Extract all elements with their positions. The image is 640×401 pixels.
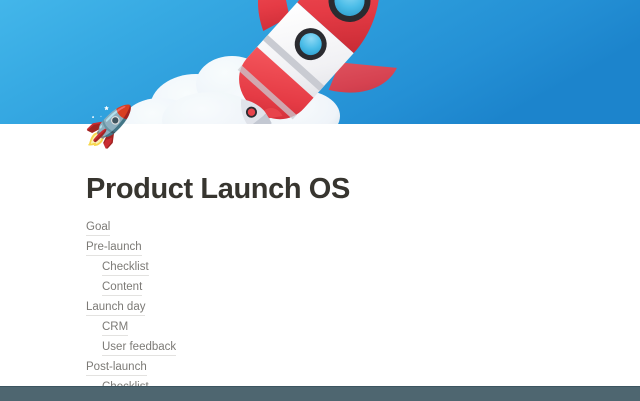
outline-link-label[interactable]: Pre-launch <box>86 240 142 256</box>
outline-link-label[interactable]: Launch day <box>86 300 145 316</box>
outline-link-label[interactable]: User feedback <box>102 340 176 356</box>
outline-link-label[interactable]: Post-launch <box>86 360 147 376</box>
outline-item-goal[interactable]: Goal <box>86 218 506 238</box>
outline-link-label[interactable]: CRM <box>102 320 128 336</box>
outline-item-launch-day-user-feedback[interactable]: User feedback <box>86 338 506 358</box>
page-outline-list: Goal Pre-launch Checklist Content Launch… <box>86 218 506 398</box>
outline-item-post-launch[interactable]: Post-launch <box>86 358 506 378</box>
rocket-emoji-icon[interactable]: 🚀 <box>84 104 130 150</box>
outline-item-pre-launch-content[interactable]: Content <box>86 278 506 298</box>
outline-link-label[interactable]: Content <box>102 280 142 296</box>
outline-item-pre-launch-checklist[interactable]: Checklist <box>86 258 506 278</box>
outline-link-label[interactable]: Goal <box>86 220 110 236</box>
bottom-status-bar <box>0 386 640 401</box>
page-title: Product Launch OS <box>86 172 350 206</box>
outline-item-launch-day-crm[interactable]: CRM <box>86 318 506 338</box>
outline-link-label[interactable]: Checklist <box>102 260 149 276</box>
outline-item-launch-day[interactable]: Launch day <box>86 298 506 318</box>
outline-item-pre-launch[interactable]: Pre-launch <box>86 238 506 258</box>
